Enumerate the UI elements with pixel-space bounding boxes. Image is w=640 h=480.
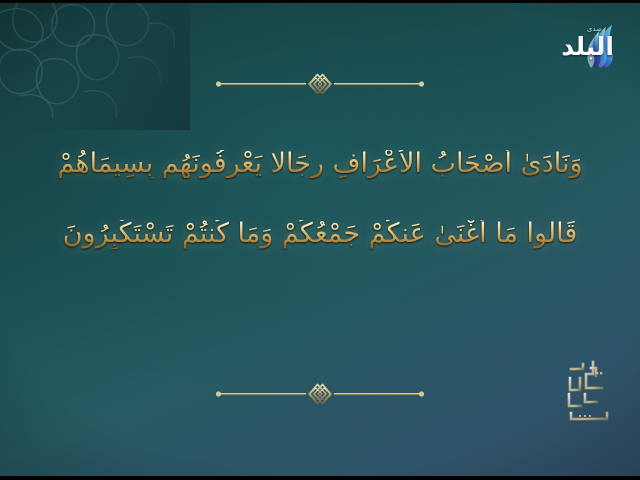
broadcast-frame: وَنَادَىٰ أَصْحَابُ الْأَعْرَافِ رِجَالً… <box>0 0 640 480</box>
divider-bottom-ornament <box>214 381 426 407</box>
divider-top-ornament <box>214 71 426 97</box>
channel-name-small: صدى <box>587 26 602 33</box>
program-emblem-kufic-icon <box>563 358 615 424</box>
quran-verse-block: وَنَادَىٰ أَصْحَابُ الْأَعْرَافِ رِجَالً… <box>0 150 640 249</box>
channel-wordmark: صدى البلد <box>548 25 614 67</box>
letterbox-bar-top <box>0 0 640 3</box>
arabesque-pattern-icon <box>0 0 175 118</box>
verse-line-2: قَالُوا مَا أَغْنَىٰ عَنكُمْ جَمْعُكُمْ … <box>0 220 640 248</box>
verse-line-1: وَنَادَىٰ أَصْحَابُ الْأَعْرَافِ رِجَالً… <box>0 150 640 178</box>
channel-name-arabic: البلد <box>561 34 614 59</box>
pattern-fade-overlay <box>0 0 190 130</box>
letterbox-bar-bottom <box>0 476 640 480</box>
